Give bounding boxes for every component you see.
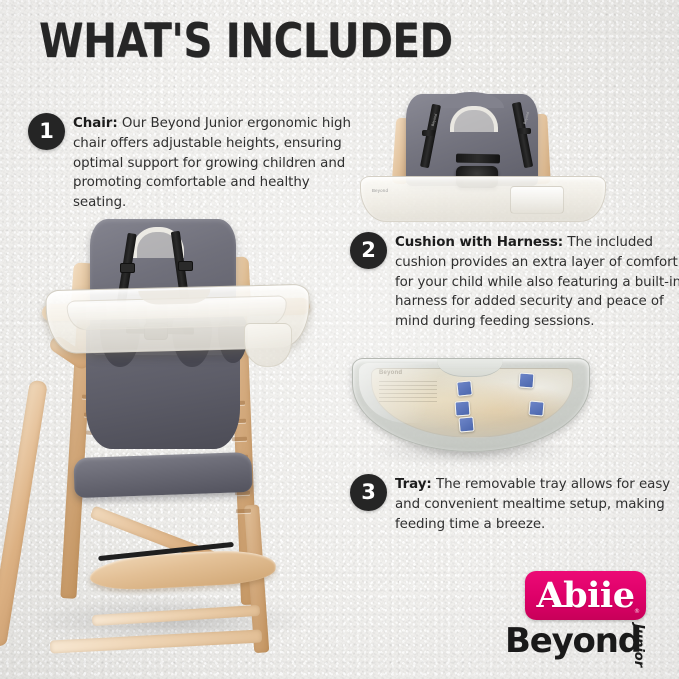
chair-notch bbox=[236, 509, 251, 514]
item-heading-chair: Chair: bbox=[73, 116, 118, 131]
harness-slider-left bbox=[422, 130, 435, 136]
cushion-photo-tray-slot bbox=[510, 186, 564, 214]
registered-trademark-mark: ® bbox=[634, 608, 640, 615]
tray-reflection-icon bbox=[458, 416, 474, 432]
item-heading-cushion: Cushion with Harness: bbox=[395, 235, 563, 250]
infographic-page: WHAT'S INCLUDED bbox=[0, 0, 679, 679]
chair-seat-cushion bbox=[73, 452, 252, 498]
harness-buckle-left bbox=[120, 263, 135, 273]
tray-reflection-icon bbox=[528, 400, 544, 416]
tray-molded-text-lines bbox=[379, 381, 437, 405]
item-body-tray: The removable tray allows for easy and c… bbox=[395, 477, 670, 532]
badge-number-1: 1 bbox=[28, 113, 65, 150]
brand-name: Abiie bbox=[525, 571, 646, 620]
brand-logo-box: Abiie ® bbox=[525, 571, 646, 620]
product-name: Beyond bbox=[505, 622, 641, 660]
badge-number-3: 3 bbox=[350, 474, 387, 511]
tray-reflection-icon bbox=[454, 400, 470, 416]
product-suffix: Junior bbox=[631, 624, 646, 667]
badge-number-2: 2 bbox=[350, 232, 387, 269]
chair-tray-side-cup bbox=[244, 323, 292, 367]
brand-logo: Abiie ® Beyond Junior bbox=[500, 566, 672, 666]
tray-reflection-icon bbox=[456, 380, 472, 396]
item-heading-tray: Tray: bbox=[395, 477, 432, 492]
item-text-tray: Tray: The removable tray allows for easy… bbox=[395, 475, 675, 534]
page-title: WHAT'S INCLUDED bbox=[39, 18, 453, 66]
item-text-chair: Chair: Our Beyond Junior ergonomic high … bbox=[73, 114, 361, 213]
product-photo-cushion: Beyond Beyond Beyond bbox=[360, 92, 612, 220]
harness-waist-strap bbox=[456, 154, 500, 164]
cushion-photo-tray-label: Beyond bbox=[372, 188, 388, 193]
tray-reflection-icon bbox=[518, 372, 534, 388]
cushion-photo-tray bbox=[360, 176, 606, 222]
harness-slider-right bbox=[518, 128, 531, 134]
item-text-cushion: Cushion with Harness: The included cushi… bbox=[395, 233, 679, 332]
chair-notch bbox=[232, 437, 247, 442]
product-photo-chair bbox=[22, 205, 334, 665]
tray-brand-label: Beyond bbox=[379, 370, 402, 376]
product-photo-tray: Beyond bbox=[352, 358, 592, 462]
harness-buckle-right bbox=[178, 261, 193, 271]
